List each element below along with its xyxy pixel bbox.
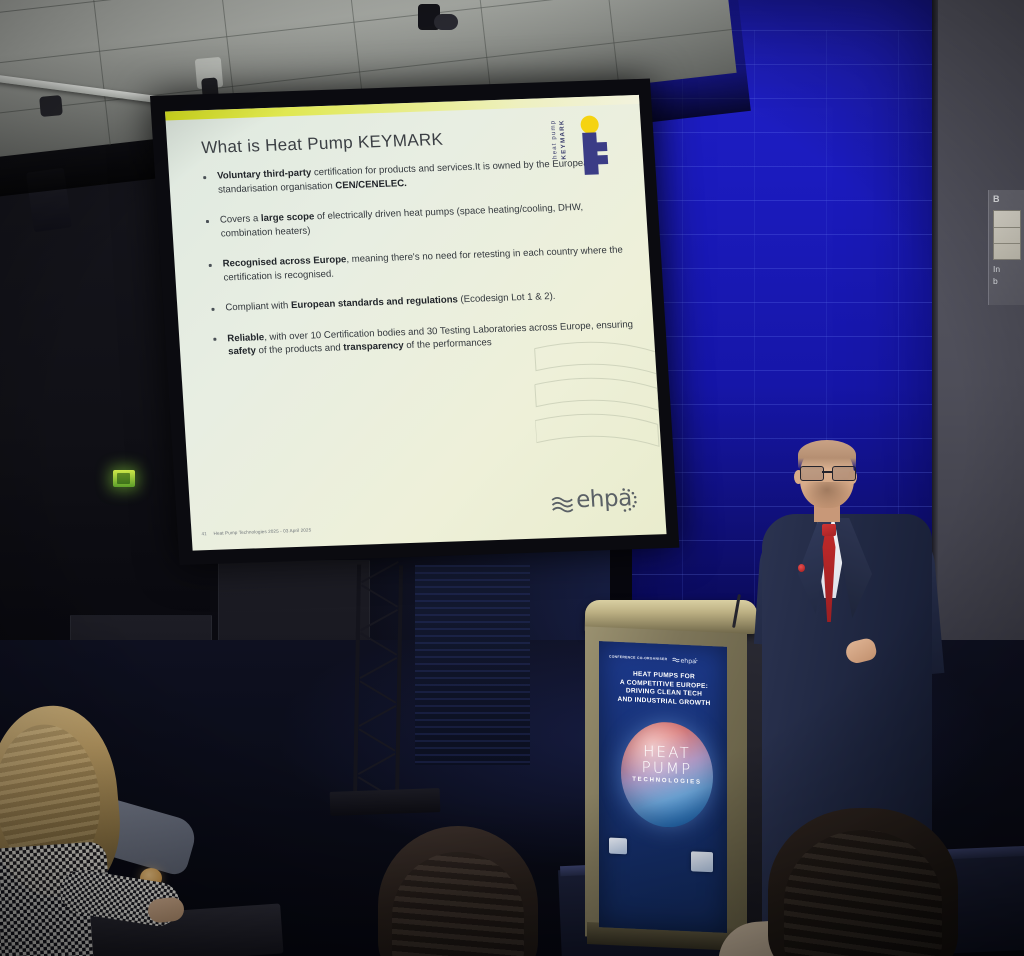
brick-vertical-joint [826,98,827,132]
brick-vertical-joint [682,472,683,506]
slide-title: What is Heat Pump KEYMARK [201,130,444,158]
brick-vertical-joint [682,166,683,200]
truss-brace [361,561,399,583]
wall-sign-graphic [993,210,1021,260]
brick-vertical-joint [826,30,827,64]
heat-pump-technologies-badge: HEAT PUMP TECHNOLOGIES [621,720,713,829]
truss-brace [359,728,396,751]
speaker-tie-knot [822,524,836,536]
exit-sign-icon [113,470,135,487]
projection-screen: What is Heat Pump KEYMARK Voluntary thir… [150,79,679,566]
sponsor-logo-right [691,851,713,872]
brick-vertical-joint [754,472,755,506]
brick-vertical-joint [682,438,683,472]
brick-vertical-joint [898,234,899,268]
slide-page-number: 41 [201,531,206,536]
brick-vertical-joint [682,540,683,574]
brick-vertical-joint [826,268,827,302]
brick-vertical-joint [826,132,827,166]
slide: What is Heat Pump KEYMARK Voluntary thir… [165,95,667,551]
brick-vertical-joint [898,64,899,98]
slide-bullet-compliant: Compliant with European standards and re… [207,287,632,315]
brick-vertical-joint [754,404,755,438]
ehpa-wordmark: ehpa [576,487,633,512]
slide-footer: Heat Pump Technologies 2025 - 03 April 2… [213,527,311,535]
brick-vertical-joint [898,302,899,336]
brick-mortar-line [610,166,940,167]
brick-vertical-joint [682,336,683,370]
brick-vertical-joint [826,166,827,200]
conference-photo: B In b What is Heat Pump KEYMARK Volunta… [0,0,1024,956]
keymark-line1: heat pump [549,120,558,159]
brick-vertical-joint [898,30,899,64]
brick-vertical-joint [682,234,683,268]
keymark-line2: KEYMARK [558,120,568,161]
slide-bullet-scope: Covers a large scope of electrically dri… [202,199,628,241]
truss-brace [361,584,398,607]
glasses-icon [800,466,856,479]
brick-mortar-line [610,132,940,133]
truss-base [330,788,441,816]
brick-vertical-joint [898,200,899,234]
brick-mortar-line [610,200,940,201]
brick-vertical-joint [754,132,755,166]
audience-member-front-right [768,808,958,956]
brick-vertical-joint [682,506,683,540]
podium-coorganiser-row: CONFERENCE CO-ORGANISER ehpa [609,652,717,666]
brick-vertical-joint [826,234,827,268]
slide-bullet-recognised: Recognised across Europe, meaning there'… [204,243,630,285]
brick-vertical-joint [898,166,899,200]
brick-vertical-joint [754,336,755,370]
truss-brace [359,680,396,703]
brick-vertical-joint [754,166,755,200]
truss-brace [358,753,396,775]
brick-vertical-joint [682,302,683,336]
brick-vertical-joint [754,268,755,302]
brick-vertical-joint [754,64,755,98]
louvre-panel [415,565,530,765]
wall-sign-title: B [993,194,1000,204]
brick-vertical-joint [682,132,683,166]
brick-vertical-joint [754,540,755,574]
brick-vertical-joint [754,506,755,540]
brick-vertical-joint [898,268,899,302]
keymark-logo: heat pump KEYMARK [548,110,627,190]
brick-vertical-joint [826,200,827,234]
brick-vertical-joint [826,302,827,336]
brick-vertical-joint [898,336,899,370]
spotlight-icon [39,95,63,117]
truss-brace [359,657,397,679]
badge-text: HEAT PUMP TECHNOLOGIES [621,742,713,786]
brick-vertical-joint [826,336,827,370]
brick-vertical-joint [826,370,827,404]
brick-vertical-joint [682,370,683,404]
ehpa-logo: ehpa [549,485,643,522]
spotlight-icon [434,14,458,30]
brick-vertical-joint [682,404,683,438]
sponsor-logo-left [609,838,627,855]
lighting-truss [353,565,403,806]
brick-vertical-joint [754,234,755,268]
brick-vertical-joint [754,370,755,404]
badge-line-2: PUMP [621,758,713,778]
slide-decorative-arcs [530,336,666,460]
podium-branding-panel: CONFERENCE CO-ORGANISER ehpa HEAT PUMPS … [599,641,727,933]
ehpa-logo-icon: ehpa [672,655,698,664]
brick-vertical-joint [682,268,683,302]
brick-vertical-joint [682,200,683,234]
wall-sign: B In b [988,190,1024,305]
wall-sign-subtitle-2: b [993,276,998,286]
brick-vertical-joint [754,438,755,472]
speaker-lapel-pin [798,564,805,572]
brick-vertical-joint [898,370,899,404]
coorganiser-label: CONFERENCE CO-ORGANISER [609,654,667,661]
wall-sign-subtitle-1: In [993,264,1000,274]
brick-vertical-joint [754,98,755,132]
keymark-logo-text: heat pump KEYMARK [548,119,570,189]
brick-vertical-joint [826,64,827,98]
svg-text:ehpa: ehpa [681,657,697,664]
brick-vertical-joint [754,200,755,234]
podium-event-title: HEAT PUMPS FORA COMPETITIVE EUROPE:DRIVI… [605,669,723,709]
podium: CONFERENCE CO-ORGANISER ehpa HEAT PUMPS … [583,600,758,940]
brick-vertical-joint [754,30,755,64]
speaker-beard [804,482,850,508]
brick-vertical-joint [898,98,899,132]
truss-brace [360,632,397,655]
truss-brace [360,609,398,631]
keymark-emblem-icon [574,114,623,187]
brick-vertical-joint [898,132,899,166]
brick-vertical-joint [754,302,755,336]
truss-brace [359,705,397,727]
